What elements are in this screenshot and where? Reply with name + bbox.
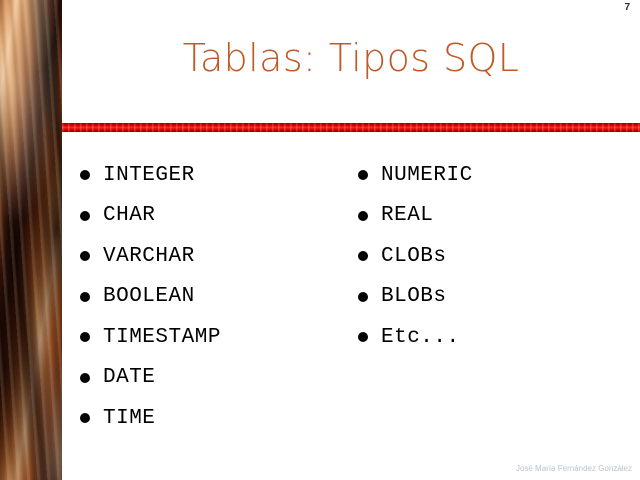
bullet-dot-icon	[80, 373, 90, 383]
bullet-column-left: INTEGER CHAR VARCHAR BOOLEAN TIMESTAMP D…	[80, 155, 221, 439]
bullet-dot-icon	[358, 170, 368, 180]
list-item-label: VARCHAR	[103, 245, 195, 268]
divider-sheen	[62, 123, 640, 132]
list-item-label: REAL	[381, 204, 433, 227]
footer-credit: José María Fernández González	[516, 464, 632, 473]
list-item: NUMERIC	[358, 155, 473, 196]
bullet-dot-icon	[80, 251, 90, 261]
list-item: CHAR	[80, 196, 221, 237]
bullet-dot-icon	[358, 251, 368, 261]
list-item: DATE	[80, 358, 221, 399]
bullet-column-right: NUMERIC REAL CLOBs BLOBs Etc...	[358, 155, 473, 358]
list-item-label: CHAR	[103, 204, 155, 227]
bullet-dot-icon	[80, 211, 90, 221]
wood-grain-layer-fibers	[0, 0, 62, 480]
list-item: TIME	[80, 398, 221, 439]
bullet-dot-icon	[80, 170, 90, 180]
list-item: Etc...	[358, 317, 473, 358]
bullet-dot-icon	[358, 211, 368, 221]
list-item: TIMESTAMP	[80, 317, 221, 358]
list-item-label: Etc...	[381, 326, 460, 349]
bullet-dot-icon	[80, 413, 90, 423]
bullet-dot-icon	[358, 292, 368, 302]
page-title: Tablas: Tipos SQL	[62, 36, 640, 80]
list-item-label: INTEGER	[103, 164, 195, 187]
list-item: VARCHAR	[80, 236, 221, 277]
page-number: 7	[624, 2, 630, 13]
title-divider-rule	[62, 123, 640, 132]
list-item: REAL	[358, 196, 473, 237]
list-item-label: TIMESTAMP	[103, 326, 221, 349]
list-item-label: DATE	[103, 366, 155, 389]
list-item-label: BLOBs	[381, 285, 447, 308]
list-item-label: NUMERIC	[381, 164, 473, 187]
list-item: INTEGER	[80, 155, 221, 196]
list-item-label: TIME	[103, 407, 155, 430]
list-item: CLOBs	[358, 236, 473, 277]
bullet-dot-icon	[358, 332, 368, 342]
bullet-dot-icon	[80, 292, 90, 302]
list-item: BOOLEAN	[80, 277, 221, 318]
list-item: BLOBs	[358, 277, 473, 318]
list-item-label: CLOBs	[381, 245, 447, 268]
list-item-label: BOOLEAN	[103, 285, 195, 308]
marbled-wood-texture	[0, 0, 62, 480]
bullet-dot-icon	[80, 332, 90, 342]
slide: 7 Tablas: Tipos SQL INTEGER CHAR VARCHAR…	[0, 0, 640, 480]
